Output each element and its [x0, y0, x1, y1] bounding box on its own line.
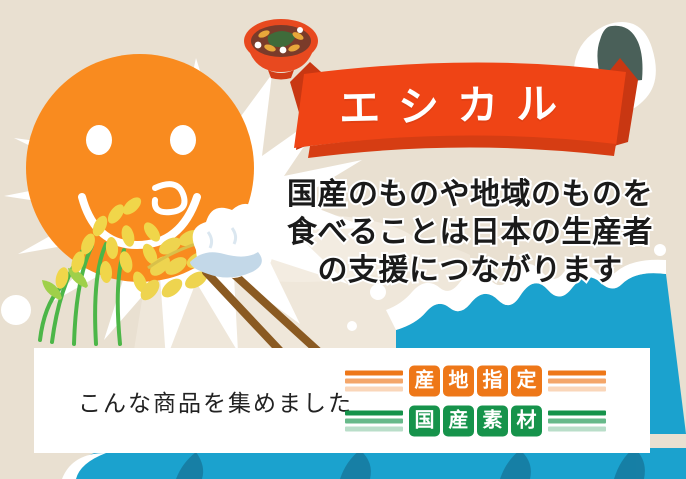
badge-dashes-right: [548, 410, 606, 431]
badge-dashes-left: [345, 410, 403, 431]
badge-chip: 定: [511, 365, 542, 396]
badge-origin-specified: 産 地 指 定: [345, 365, 606, 396]
headline-line-2: 食べることは日本の生産者: [258, 214, 682, 252]
badge-chip: 指: [477, 365, 508, 396]
badge-chip: 地: [443, 365, 474, 396]
headline: 国産のものや地域のものを 食べることは日本の生産者 の支援につながります: [258, 176, 682, 289]
badge-dashes-right: [548, 370, 606, 391]
badge-chip: 国: [409, 405, 440, 436]
badge-chip: 産: [443, 405, 474, 436]
ribbon-char-2: シ: [397, 72, 443, 133]
headline-line-3: の支援につながります: [258, 252, 682, 290]
badge-domestic-ingredients: 国 産 素 材: [345, 405, 606, 436]
bottom-panel: こんな商品を集めました 産 地 指 定: [34, 348, 650, 453]
ribbon-char-3: カ: [456, 71, 502, 132]
ethical-food-banner: エ シ カ ル 国産のものや地域のものを 食べることは日本の生産者 の支援につな…: [0, 0, 686, 479]
collected-products-text: こんな商品を集めました: [78, 384, 353, 418]
ribbon-char-4: ル: [515, 70, 561, 131]
badge-chips: 産 地 指 定: [409, 365, 542, 396]
badge-chip: 材: [511, 405, 542, 436]
badge-dashes-left: [345, 370, 403, 391]
ribbon-label: エ シ カ ル: [299, 69, 600, 135]
badge-chip: 素: [477, 405, 508, 436]
badge-stack: 産 地 指 定 国 産 素 材: [345, 365, 606, 436]
badge-chips: 国 産 素 材: [409, 405, 542, 436]
headline-line-1: 国産のものや地域のものを: [258, 176, 682, 214]
ribbon-char-1: エ: [338, 73, 384, 134]
badge-chip: 産: [409, 365, 440, 396]
